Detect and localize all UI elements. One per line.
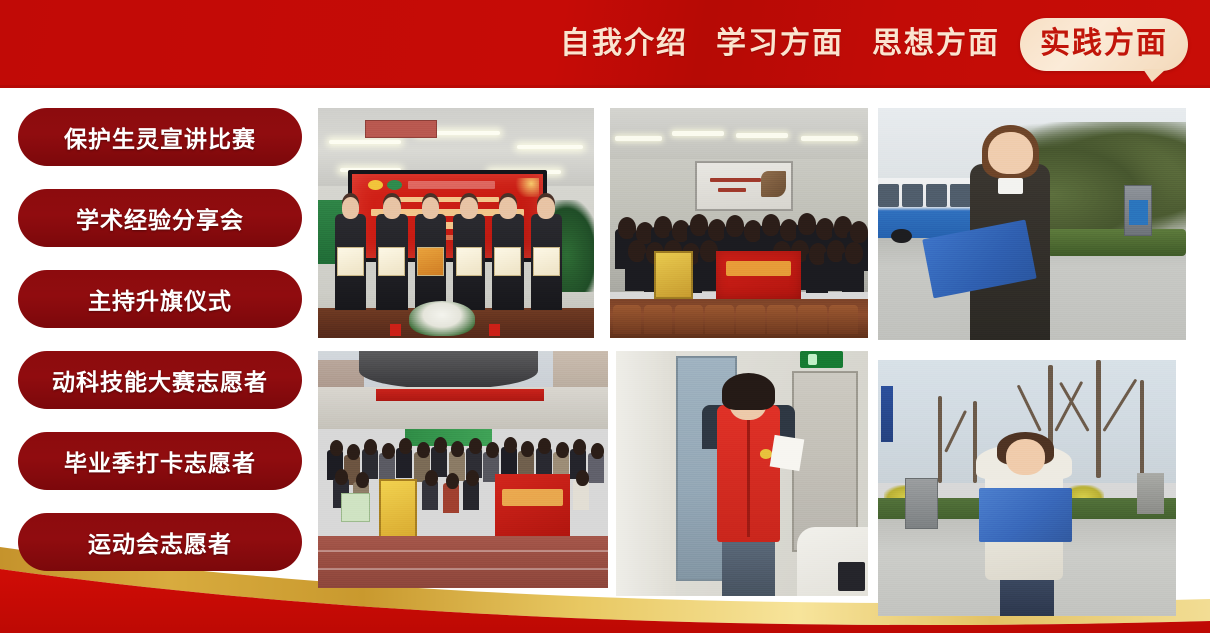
sidebar-item-sports-meet-volunteer[interactable]: 运动会志愿者: [18, 513, 302, 571]
tab-ideology[interactable]: 思想方面: [858, 29, 1014, 59]
sidebar-item-graduation-checkin-volunteer[interactable]: 毕业季打卡志愿者: [18, 432, 302, 490]
sidebar-item-academic-experience-sharing[interactable]: 学术经验分享会: [18, 189, 302, 247]
navigation-tabs: 自我介绍 学习方面 思想方面 实践方面: [546, 0, 1188, 88]
sidebar-item-host-flag-raising-ceremony[interactable]: 主持升旗仪式: [18, 270, 302, 328]
photo-lecture-hall-group[interactable]: [610, 108, 868, 338]
tab-practice[interactable]: 实践方面: [1020, 18, 1188, 71]
tab-study[interactable]: 学习方面: [702, 29, 858, 59]
photo-winter-plaza-portrait[interactable]: [878, 360, 1176, 616]
photo-outdoor-portrait-bus[interactable]: [878, 108, 1186, 340]
tab-self-introduction[interactable]: 自我介绍: [546, 29, 702, 59]
header-band: 自我介绍 学习方面 思想方面 实践方面: [0, 0, 1210, 88]
slide-root: 自我介绍 学习方面 思想方面 实践方面 保护生灵宣讲比赛 学术经验分享会 主持升…: [0, 0, 1210, 633]
photo-red-vest-volunteer[interactable]: [616, 351, 868, 596]
photo-sports-field-group[interactable]: [318, 351, 608, 588]
sidebar-item-protect-life-speech-contest[interactable]: 保护生灵宣讲比赛: [18, 108, 302, 166]
photo-gallery: [318, 108, 1186, 590]
sidebar-activity-list: 保护生灵宣讲比赛 学术经验分享会 主持升旗仪式 动科技能大赛志愿者 毕业季打卡志…: [18, 108, 302, 571]
photo-award-ceremony[interactable]: [318, 108, 594, 338]
sidebar-item-animal-science-skills-volunteer[interactable]: 动科技能大赛志愿者: [18, 351, 302, 409]
